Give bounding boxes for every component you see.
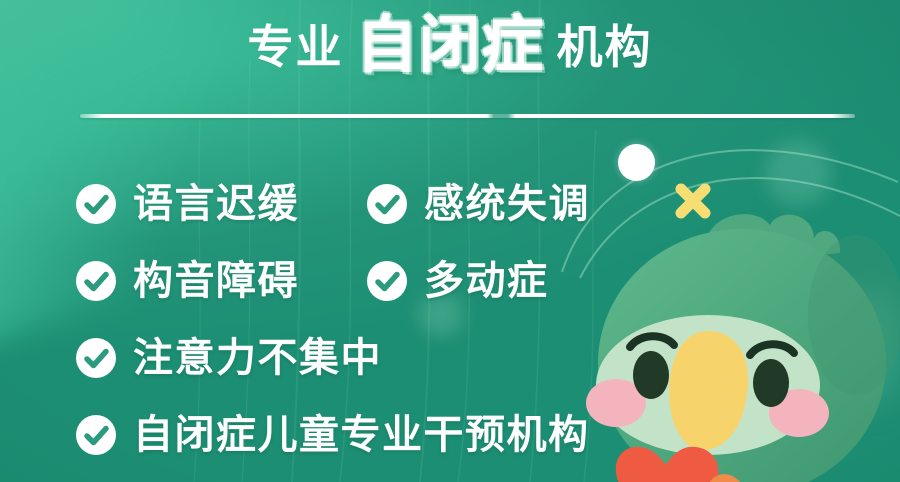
- feature-list: 语言迟缓 感统失调 构音障碍: [0, 168, 620, 476]
- check-circle-icon: [366, 260, 408, 302]
- banner-title: 专业 自闭症 机构: [0, 6, 900, 88]
- check-circle-icon: [75, 260, 117, 302]
- feature-row: 语言迟缓 感统失调: [0, 168, 620, 245]
- feature-label: 语言迟缓: [133, 184, 299, 224]
- feature-label: 感统失调: [424, 184, 590, 224]
- check-circle-icon: [75, 183, 117, 225]
- title-prefix: 专业: [247, 24, 343, 70]
- feature-item[interactable]: 注意力不集中: [75, 322, 382, 394]
- feature-label: 自闭症儿童专业干预机构: [133, 415, 590, 455]
- autism-institution-banner: 专业 自闭症 机构: [0, 0, 900, 482]
- white-dot: [618, 144, 655, 181]
- feature-item[interactable]: 感统失调: [366, 168, 590, 240]
- check-circle-icon: [366, 183, 408, 225]
- feature-label: 构音障碍: [133, 261, 299, 301]
- feature-row: 注意力不集中: [0, 322, 620, 399]
- check-circle-icon: [75, 414, 117, 456]
- feature-item[interactable]: 构音障碍: [75, 245, 299, 317]
- title-highlight: 自闭症: [355, 15, 544, 80]
- feature-item[interactable]: 语言迟缓: [75, 168, 299, 240]
- title-suffix: 机构: [557, 24, 653, 70]
- feature-label: 注意力不集中: [133, 338, 382, 378]
- feature-row: 构音障碍 多动症: [0, 245, 620, 322]
- feature-row: 自闭症儿童专业干预机构: [0, 399, 620, 476]
- horizontal-divider: [80, 114, 855, 118]
- feature-label: 多动症: [424, 261, 549, 301]
- feature-item[interactable]: 自闭症儿童专业干预机构: [75, 399, 590, 471]
- check-circle-icon: [75, 337, 117, 379]
- feature-item[interactable]: 多动症: [366, 245, 549, 317]
